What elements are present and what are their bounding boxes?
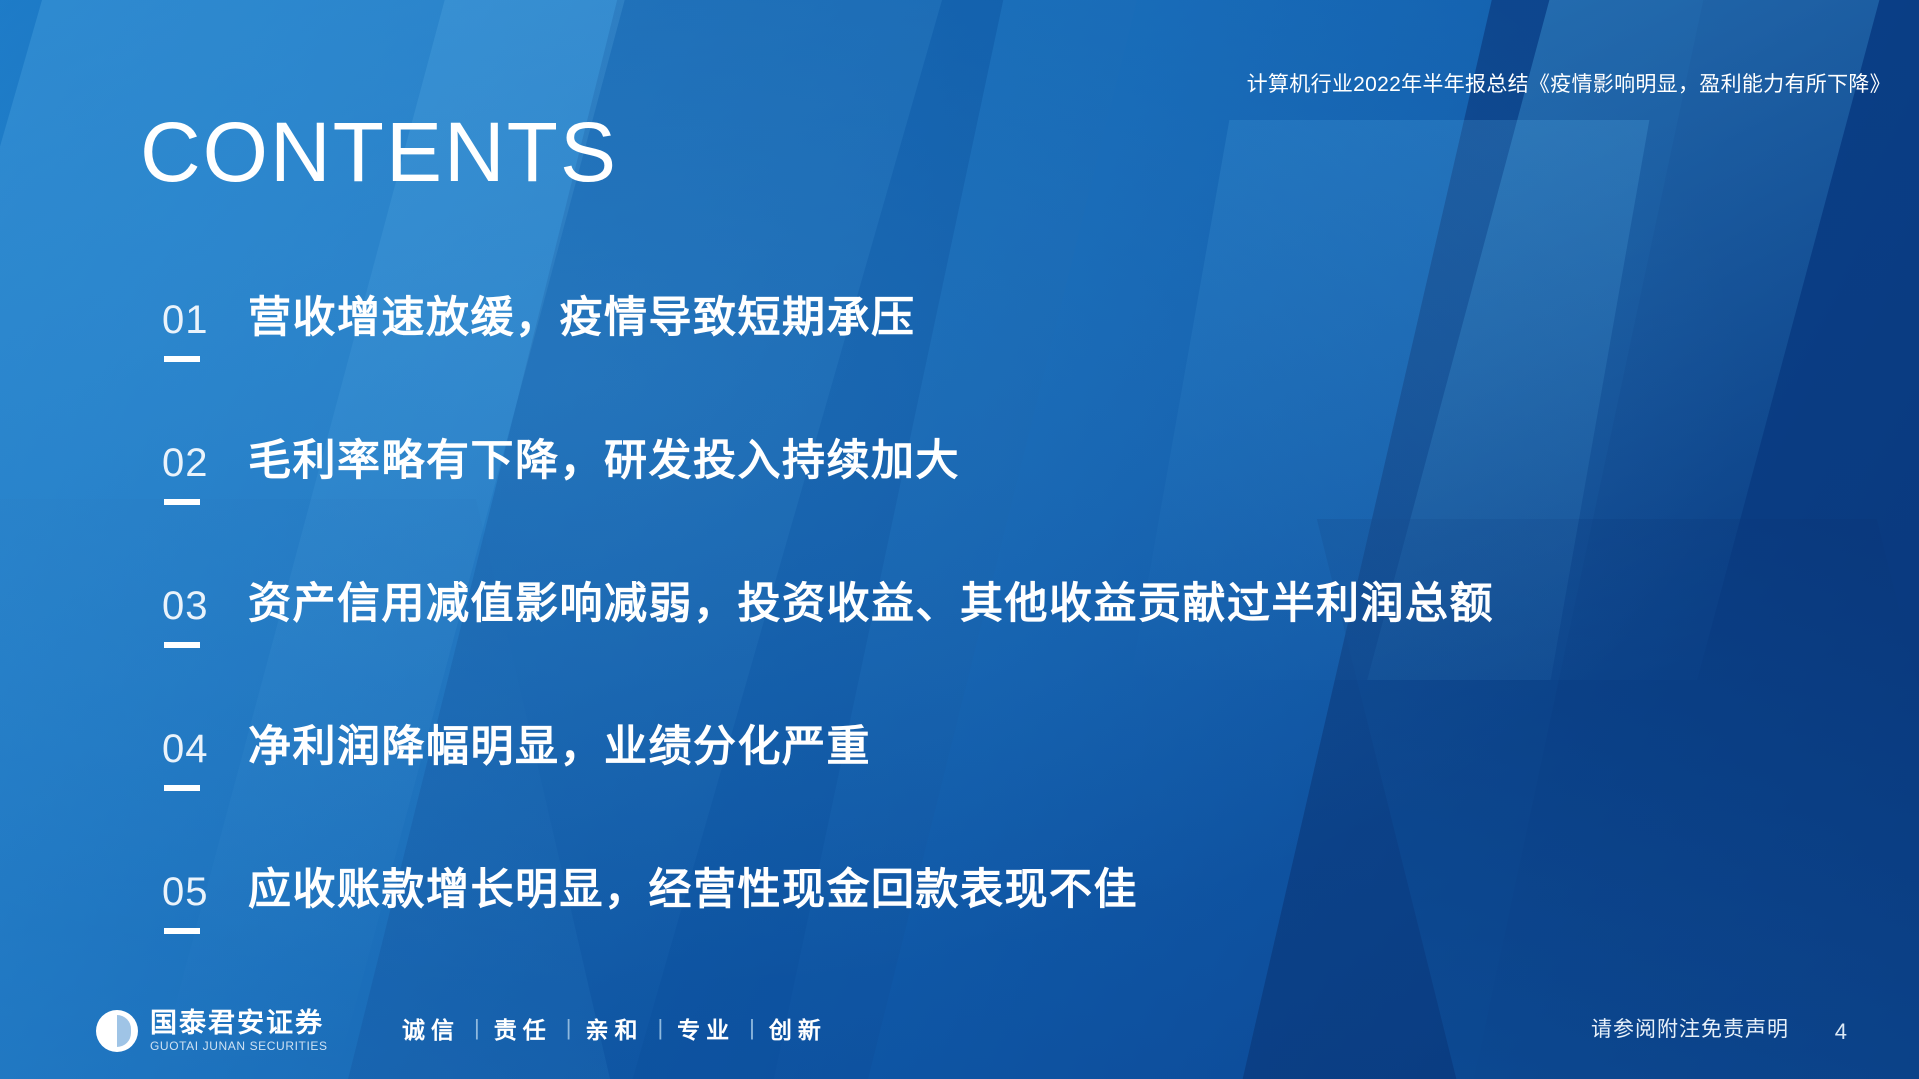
company-logo-text: 国泰君安证券 GUOTAI JUNAN SECURITIES: [150, 1009, 328, 1053]
slide-footer: 国泰君安证券 GUOTAI JUNAN SECURITIES 诚信 | 责任 |…: [0, 987, 1919, 1079]
slogan-word-1: 诚信: [396, 1011, 466, 1045]
toc-number-wrap-02: 02: [162, 443, 248, 483]
table-of-contents: 01 营收增速放缓，疫情导致短期承压 02 毛利率略有下降，研发投入持续加大 0…: [162, 300, 1879, 1015]
toc-number-underline-icon: [164, 642, 200, 648]
toc-label: 应收账款增长明显，经营性现金回款表现不佳: [248, 868, 1138, 913]
toc-number-wrap-03: 03: [162, 586, 248, 626]
toc-number-underline-icon: [164, 499, 200, 505]
toc-item-04[interactable]: 04 净利润降幅明显，业绩分化严重: [162, 729, 1879, 872]
toc-label: 营收增速放缓，疫情导致短期承压: [248, 296, 916, 341]
toc-label: 净利润降幅明显，业绩分化严重: [248, 725, 871, 770]
toc-number-wrap-05: 05: [162, 872, 248, 912]
slogan-word-3: 亲和: [579, 1011, 649, 1045]
toc-item-03[interactable]: 03 资产信用减值影响减弱，投资收益、其他收益贡献过半利润总额: [162, 586, 1879, 729]
slogan-word-2: 责任: [488, 1011, 558, 1045]
toc-number: 03: [162, 586, 248, 626]
slogan-separator-icon: |: [466, 1015, 488, 1041]
report-running-title: 计算机行业2022年半年报总结《疫情影响明显，盈利能力有所下降》: [1247, 68, 1891, 98]
disclaimer-text: 请参阅附注免责声明: [1591, 1013, 1789, 1043]
toc-number: 04: [162, 729, 248, 769]
company-name-en: GUOTAI JUNAN SECURITIES: [150, 1039, 328, 1053]
page-title: CONTENTS: [140, 110, 618, 194]
company-logo: 国泰君安证券 GUOTAI JUNAN SECURITIES: [96, 1009, 328, 1053]
slogan-separator-icon: |: [741, 1015, 763, 1041]
company-slogan: 诚信 | 责任 | 亲和 | 专业 | 创新: [396, 1011, 833, 1045]
toc-label: 资产信用减值影响减弱，投资收益、其他收益贡献过半利润总额: [248, 582, 1494, 627]
page-number: 4: [1835, 1019, 1847, 1045]
slogan-word-5: 创新: [763, 1011, 833, 1045]
toc-number-wrap-01: 01: [162, 300, 248, 340]
slogan-word-4: 专业: [671, 1011, 741, 1045]
toc-label: 毛利率略有下降，研发投入持续加大: [248, 439, 960, 484]
toc-item-02[interactable]: 02 毛利率略有下降，研发投入持续加大: [162, 443, 1879, 586]
guotai-junan-logo-icon: [96, 1010, 138, 1052]
slogan-separator-icon: |: [649, 1015, 671, 1041]
toc-number: 01: [162, 300, 248, 340]
company-name-cn: 国泰君安证券: [150, 1009, 328, 1037]
toc-number-wrap-04: 04: [162, 729, 248, 769]
slogan-separator-icon: |: [558, 1015, 580, 1041]
toc-number: 05: [162, 872, 248, 912]
toc-item-01[interactable]: 01 营收增速放缓，疫情导致短期承压: [162, 300, 1879, 443]
slide-contents: 计算机行业2022年半年报总结《疫情影响明显，盈利能力有所下降》 CONTENT…: [0, 0, 1919, 1079]
toc-number-underline-icon: [164, 785, 200, 791]
toc-number-underline-icon: [164, 356, 200, 362]
toc-number-underline-icon: [164, 928, 200, 934]
toc-number: 02: [162, 443, 248, 483]
